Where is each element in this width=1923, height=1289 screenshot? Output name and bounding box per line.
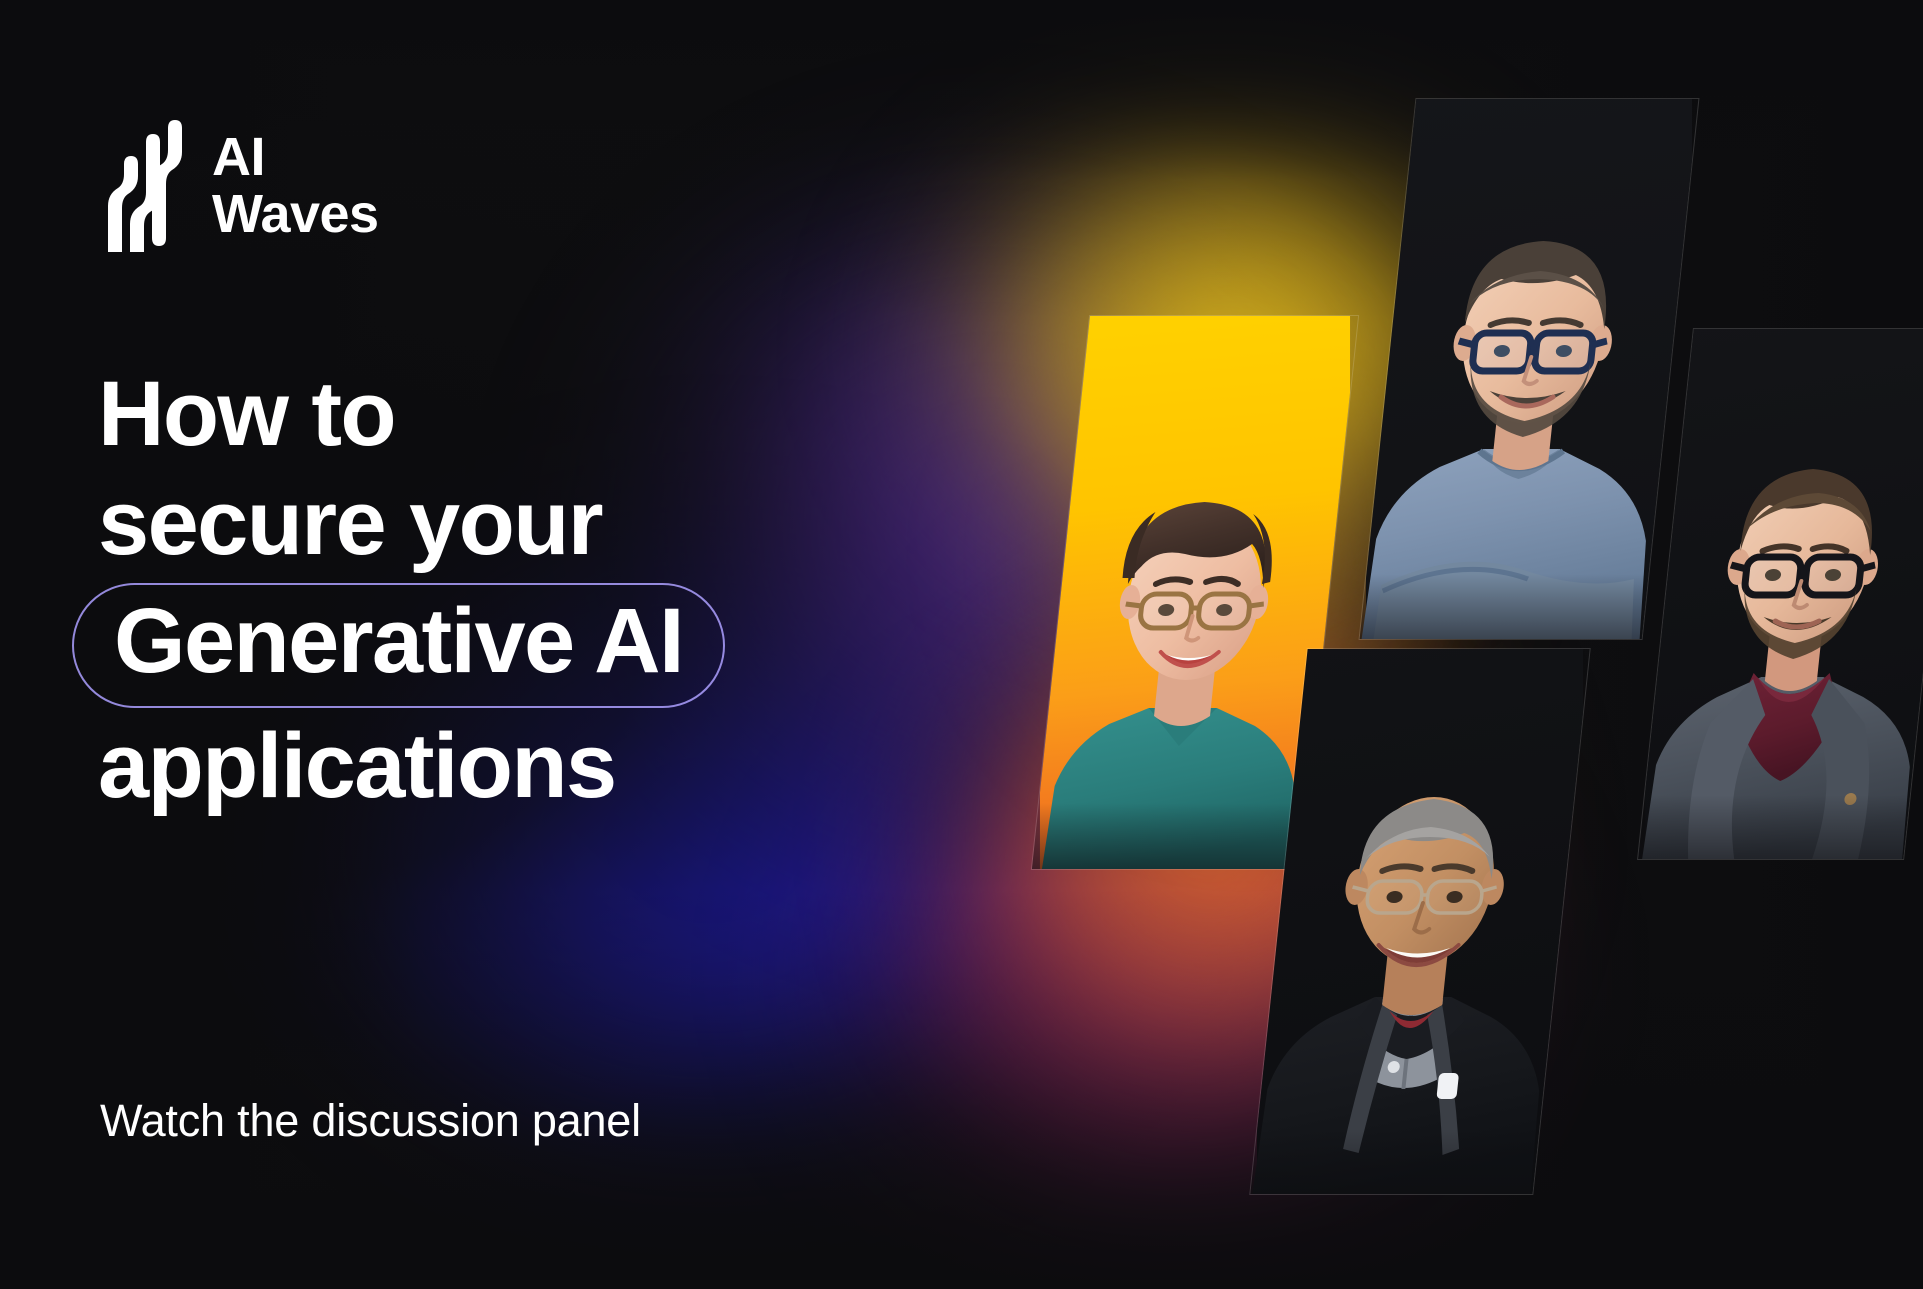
headline-line-2: secure your: [98, 469, 998, 578]
brand-name: AI Waves: [212, 129, 379, 243]
headline: How to secure your Generative AI applica…: [98, 360, 998, 820]
cta-text[interactable]: Watch the discussion panel: [100, 1095, 641, 1147]
promo-banner: AI Waves How to secure your Generative A…: [0, 0, 1923, 1289]
speaker-photo-2: [1359, 98, 1700, 640]
speaker-portrait-4: [1250, 649, 1589, 1194]
speaker-portrait-2: [1360, 99, 1699, 639]
headline-highlight-pill: Generative AI: [72, 583, 725, 708]
headline-line-1: How to: [98, 360, 998, 469]
headline-line-4: applications: [98, 712, 998, 821]
ai-waves-wave-mark-icon: [100, 120, 186, 252]
brand-logo[interactable]: AI Waves: [100, 120, 379, 252]
speaker-photo-4: [1249, 648, 1590, 1195]
